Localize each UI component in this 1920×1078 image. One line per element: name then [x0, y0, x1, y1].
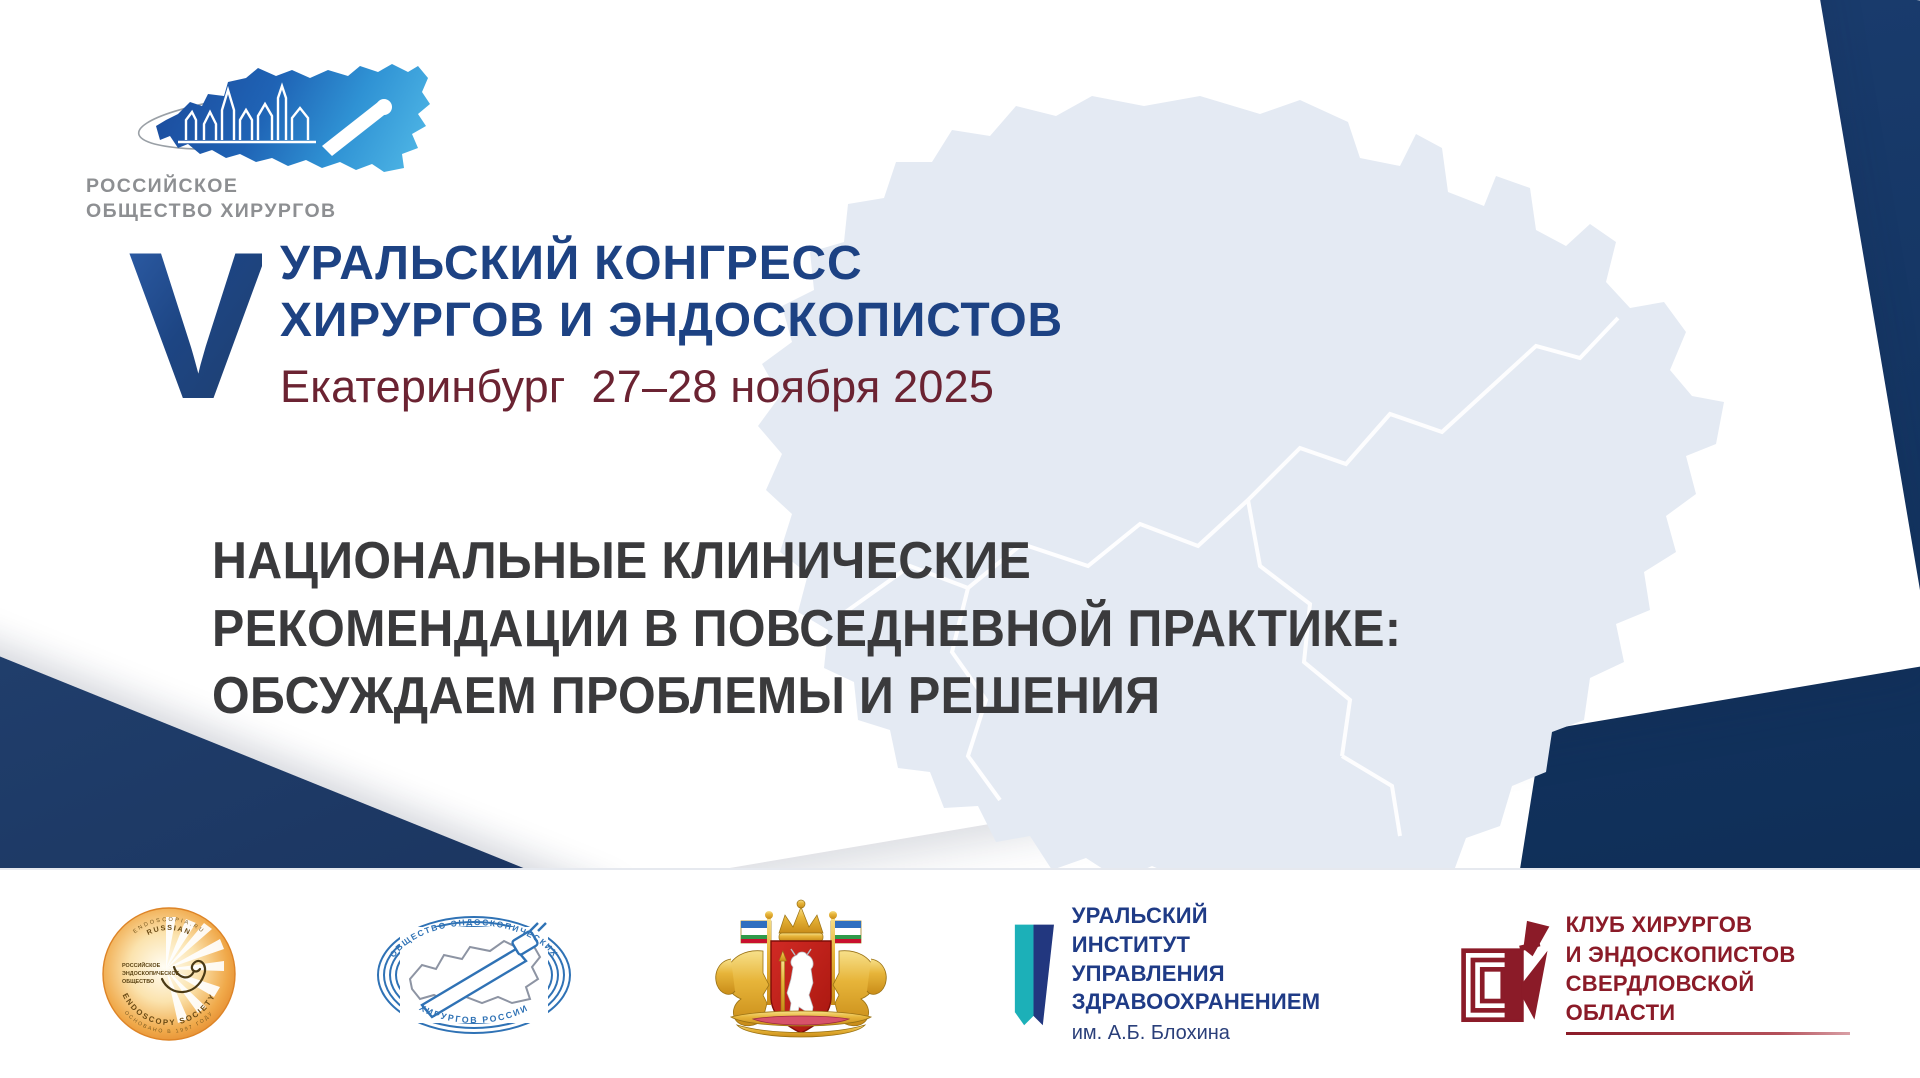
partner-russian-endoscopy-society: RUSSIAN ENDOSCOPIA.RU ENDOSCOPY SOCIETY …	[100, 905, 238, 1043]
circular-sunburst-badge-icon: RUSSIAN ENDOSCOPIA.RU ENDOSCOPY SOCIETY …	[100, 905, 238, 1043]
footer-partners-bar: RUSSIAN ENDOSCOPIA.RU ENDOSCOPY SOCIETY …	[0, 868, 1920, 1078]
uium-line3: ЗДРАВООХРАНЕНИЕМ	[1072, 988, 1331, 1017]
uium-v-mark-icon	[1013, 915, 1058, 1033]
society-logo-line1: РОССИЙСКОЕ	[86, 174, 337, 199]
headline-line3: ОБСУЖДАЕМ ПРОБЛЕМЫ И РЕШЕНИЯ	[212, 663, 1533, 731]
uium-line2: ИНСТИТУТ УПРАВЛЕНИЯ	[1072, 931, 1331, 988]
club-text-block: КЛУБ ХИРУРГОВ И ЭНДОСКОПИСТОВ СВЕРДЛОВСК…	[1566, 910, 1850, 1038]
oval-map-endoscope-icon: ОБЩЕСТВО ЭНДОСКОПИЧЕСКИХ ХИРУРГОВ РОССИИ	[366, 909, 581, 1039]
congress-title-line2: ХИРУРГОВ И ЭНДОСКОПИСТОВ	[280, 293, 1063, 350]
club-line1: КЛУБ ХИРУРГОВ	[1566, 910, 1850, 939]
svg-text:РОССИЙСКОЕ: РОССИЙСКОЕ	[122, 961, 161, 969]
uium-text-block: УРАЛЬСКИЙ ИНСТИТУТ УПРАВЛЕНИЯ ЗДРАВООХРА…	[1072, 902, 1331, 1045]
svg-text:ОБЩЕСТВО: ОБЩЕСТВО	[122, 979, 154, 985]
svg-text:ЭНДОСКОПИЧЕСКОЕ: ЭНДОСКОПИЧЕСКОЕ	[122, 971, 180, 977]
roman-numeral-five: V	[128, 240, 262, 412]
congress-title-lines: УРАЛЬСКИЙ КОНГРЕСС ХИРУРГОВ И ЭНДОСКОПИС…	[280, 236, 1063, 413]
partner-society-of-endoscopic-surgeons: ОБЩЕСТВО ЭНДОСКОПИЧЕСКИХ ХИРУРГОВ РОССИИ	[366, 909, 581, 1039]
partner-ural-institute-of-health-management: УРАЛЬСКИЙ ИНСТИТУТ УПРАВЛЕНИЯ ЗДРАВООХРА…	[1013, 902, 1330, 1045]
club-line3: СВЕРДЛОВСКОЙ ОБЛАСТИ	[1566, 969, 1850, 1028]
congress-title-line1: УРАЛЬСКИЙ КОНГРЕСС	[280, 236, 1063, 293]
congress-dates: 27–28 ноября 2025	[592, 361, 995, 412]
headline-line2: РЕКОМЕНДАЦИИ В ПОВСЕДНЕВНОЙ ПРАКТИКЕ:	[212, 596, 1533, 664]
russia-map-icon	[116, 62, 436, 180]
coat-of-arms-icon	[701, 899, 901, 1049]
uium-line1: УРАЛЬСКИЙ	[1072, 902, 1331, 931]
congress-city-and-dates: Екатеринбург27–28 ноября 2025	[280, 361, 1063, 413]
headline-line1: НАЦИОНАЛЬНЫЕ КЛИНИЧЕСКИЕ	[212, 528, 1533, 596]
headline-block: НАЦИОНАЛЬНЫЕ КЛИНИЧЕСКИЕ РЕКОМЕНДАЦИИ В …	[212, 528, 1632, 731]
club-k-monogram-icon	[1458, 911, 1553, 1037]
uium-line4: им. А.Б. Блохина	[1072, 1020, 1331, 1046]
partner-sverdlovsk-coat-of-arms	[701, 899, 901, 1049]
congress-city: Екатеринбург	[280, 361, 566, 412]
club-line2: И ЭНДОСКОПИСТОВ	[1566, 940, 1850, 969]
club-underline-rule	[1566, 1032, 1850, 1035]
partner-club-of-surgeons-and-endoscopists: КЛУБ ХИРУРГОВ И ЭНДОСКОПИСТОВ СВЕРДЛОВСК…	[1458, 910, 1850, 1038]
poster-root: РОССИЙСКОЕ ОБЩЕСТВО ХИРУРГОВ V УРАЛЬСКИЙ…	[0, 0, 1920, 1078]
